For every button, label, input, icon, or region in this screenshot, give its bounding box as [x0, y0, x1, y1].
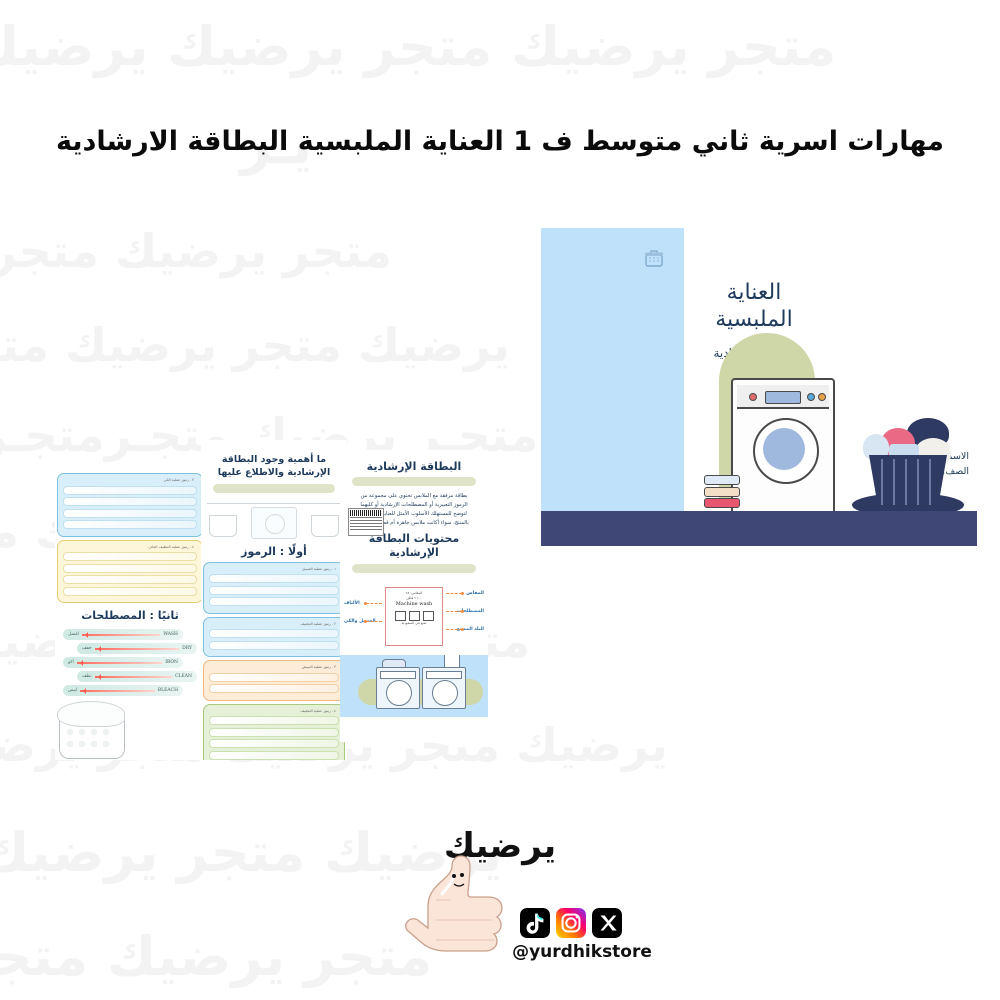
wash-tub-icon [423, 611, 434, 621]
symbols-subheading: أولًا : الرموز [201, 545, 347, 558]
symbol-card-title: ٣ . رموز عملية الكي [63, 478, 197, 483]
term-en: WASH [163, 632, 178, 637]
term-ar: نظف [82, 674, 92, 679]
term-ar: جفف [82, 646, 92, 651]
tiktok-icon[interactable] [520, 908, 550, 938]
diagram-label-fiber: الألياف [344, 601, 360, 606]
symbol-card: ٤ . رموز عملية التجفيف [203, 704, 345, 760]
diagram-label-size: المقاس [466, 591, 484, 596]
thumbnail-terms[interactable]: ٣ . رموز عملية الكي ٤ . رموز عملية التنظ… [55, 470, 205, 760]
term-row: IRON اكو [63, 657, 183, 668]
term-en: BLEACH [158, 688, 178, 693]
term-row: CLEAN نظف [77, 671, 197, 682]
symbol-card-title: ٢ . رموز عملية التجفيف [209, 622, 339, 627]
dryer-icon [422, 667, 466, 709]
laundry-basket-icon [642, 246, 666, 270]
symbol-card-title: ٤ . رموز عملية التنظيف الجاف [63, 545, 197, 550]
page-title: مهارات اسرية ثاني متوسط ف 1 العناية المل… [0, 126, 1000, 157]
term-en: DRY [182, 646, 192, 651]
laundry-basket-illustration [857, 418, 957, 513]
washer-icon [376, 667, 420, 709]
symbol-card: ١ . رموز عملية الغسيل [203, 562, 345, 614]
symbol-card-title: ٤ . رموز عملية التجفيف [209, 709, 339, 714]
hero-floor-band [541, 511, 977, 546]
basket-body [869, 455, 947, 509]
heading-rule [213, 484, 335, 493]
hero-slide-preview[interactable]: العناية الملبسية البطاقةالإرشادية الاسم:… [541, 228, 977, 546]
laundry-basket-sketch [55, 699, 205, 759]
care-symbol-icons [386, 611, 442, 621]
watermark-row: متجر يرضيك متجر [0, 228, 392, 274]
card-contents-subheading: محتويات البطاقة الإرشادية [340, 532, 488, 560]
washer-knob [807, 393, 815, 401]
watermark-row: متجر يرضيك متجر يرضيك يرضيك [0, 20, 836, 74]
term-ar: اغسل [68, 632, 79, 637]
term-en: IRON [165, 660, 178, 665]
laundry-room-illustration [340, 655, 488, 717]
term-ar: ابيض [68, 688, 77, 693]
heading-rule [352, 477, 476, 486]
card-info-heading: البطاقة الإرشادية [340, 460, 488, 473]
term-ar: اكو [68, 660, 74, 665]
wash-tub-icon [395, 611, 406, 621]
diagram-center-label: المقاس: ٢٨ ١٠٠٪ قطن Machine wash صنع في … [385, 587, 443, 646]
hero-title: العناية الملبسية [541, 280, 967, 334]
diagram-machine-wash: Machine wash [386, 601, 442, 609]
term-row: DRY جفف [77, 643, 197, 654]
washer-display [765, 391, 801, 404]
symbol-card: ٣ . رموز عملية التبييض [203, 660, 345, 701]
x-icon[interactable] [592, 908, 622, 938]
symbol-card-title: ٣ . رموز عملية التبييض [209, 665, 339, 670]
card-contents-line2: الإرشادية [340, 546, 488, 560]
term-en: CLEAN [175, 674, 192, 679]
care-label-image [348, 508, 384, 536]
symbol-card: ٤ . رموز عملية التنظيف الجاف [57, 540, 203, 604]
symbol-card: ٣ . رموز عملية الكي [57, 473, 203, 537]
symbol-card-title: ١ . رموز عملية الغسيل [209, 567, 339, 572]
watermark-row: يرضيك متجر يرضيك متجر [0, 322, 510, 368]
hero-title-line1: العناية [541, 280, 967, 307]
washer-control-panel [737, 385, 829, 409]
bleach-triangle-icon [409, 611, 420, 621]
footer-brand: يرضيك [0, 820, 1000, 980]
thumbnail-symbols[interactable]: ما أهمية وجود البطاقة الإرشادية والاطلاع… [201, 440, 347, 760]
washer-door [753, 418, 819, 484]
diagram-origin-line: صنع في السعودية [386, 621, 442, 626]
thumbnail-card-info[interactable]: البطاقة الإرشادية بطاقة مرفقة مع الملابس… [340, 450, 488, 742]
store-handle[interactable]: @yurdhikstore [462, 942, 702, 962]
washer-knob [749, 393, 757, 401]
terms-heading: ثانيًا : المصطلحات [55, 609, 205, 622]
symbols-heading: ما أهمية وجود البطاقة الإرشادية والاطلاع… [201, 454, 347, 480]
symbols-heading-line1: ما أهمية وجود البطاقة [201, 454, 347, 467]
hero-blue-panel [541, 228, 684, 516]
clothesline-illustration [201, 499, 347, 539]
instagram-icon[interactable] [556, 908, 586, 938]
folded-towels-illustration [704, 475, 740, 511]
care-label-diagram: المقاس: ٢٨ ١٠٠٪ قطن Machine wash صنع في … [340, 579, 488, 649]
hero-title-line2: الملبسية [541, 307, 967, 334]
symbols-heading-line2: الإرشادية والاطلاع عليها [201, 467, 347, 480]
washer-knob [818, 393, 826, 401]
term-row: WASH اغسل [63, 629, 183, 640]
social-icons[interactable] [520, 908, 622, 938]
symbol-card: ٢ . رموز عملية التجفيف [203, 617, 345, 658]
terms-list: WASH اغسل DRY جفف IRON اكو CLEAN نظف BLE… [55, 622, 205, 696]
heading-rule [352, 564, 476, 573]
term-row: BLEACH ابيض [63, 685, 183, 696]
washing-machine-illustration [731, 378, 835, 515]
